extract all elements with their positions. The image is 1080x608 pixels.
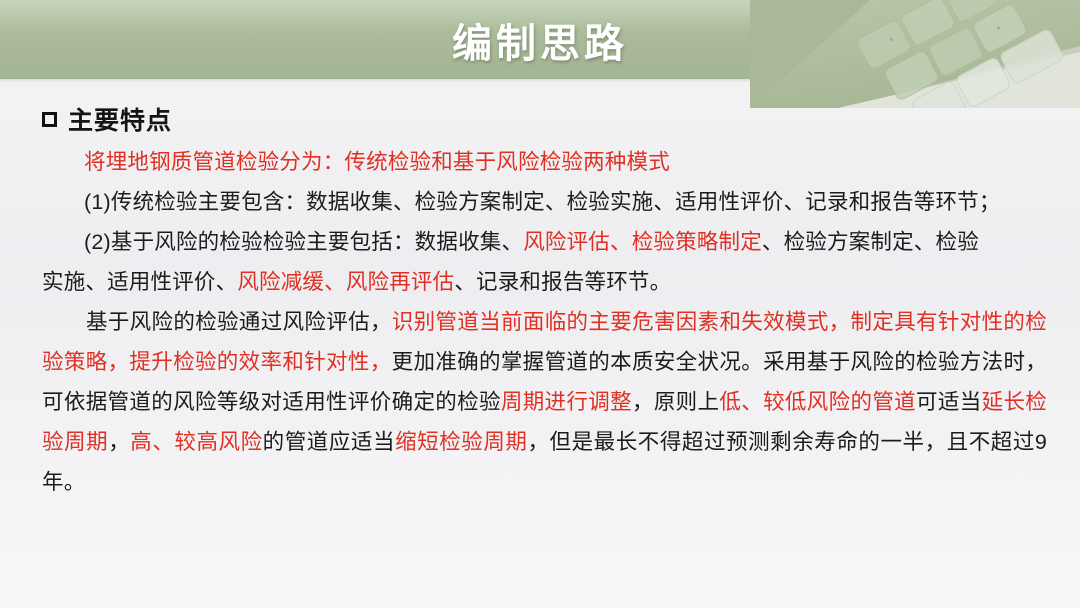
list-item-2-seg-f: 、记录和报告等环节。 [454,270,671,294]
paragraph-seg-11: 的管道应适当 [263,430,395,454]
paragraph-seg-1: 基于风险的检验通过风险评估， [86,310,392,334]
paragraph-seg-7: 可适当 [916,390,982,414]
list-item-2-line-2: 实施、适用性评价、风险减缓、风险再评估、记录和报告等环节。 [42,262,1050,302]
section-heading: 主要特点 [42,101,172,137]
slide-body: 主要特点 将埋地钢质管道检验分为：传统检验和基于风险检验两种模式 (1)传统检验… [0,82,1080,608]
paragraph-seg-9: ， [108,430,130,454]
main-paragraph: 基于风险的检验通过风险评估，识别管道当前面临的主要危害因素和失效模式，制定具有针… [42,302,1047,502]
paragraph-seg-5: ，原则上 [632,390,719,414]
intro-line: 将埋地钢质管道检验分为：传统检验和基于风险检验两种模式 [84,142,1080,182]
list-item-2-line-1: (2)基于风险的检验检验主要包括：数据收集、风险评估、检验策略制定、检验方案制定… [84,222,1080,262]
slide-root: 编制思路 主要特点 将埋地钢质管道检验分为：传统检验和基于风险检验两种模式 (1… [0,0,1080,608]
list-item-2-seg-b: 风险评估、检验策略制定 [523,230,762,254]
list-item-2-seg-a: (2)基于风险的检验检验主要包括：数据收集、 [84,230,523,254]
paragraph-seg-10: 高、较高风险 [130,430,262,454]
section-heading-label: 主要特点 [68,101,172,137]
paragraph-seg-12: 缩短检验周期 [395,430,527,454]
list-item-1: (1)传统检验主要包含：数据收集、检验方案制定、检验实施、适用性评价、记录和报告… [84,182,1080,222]
paragraph-seg-4: 周期进行调整 [501,390,632,414]
list-item-2-seg-d: 实施、适用性评价、 [42,270,237,294]
list-item-2-seg-c: 、检验方案制定、检验 [762,230,979,254]
list-item-1-text: (1)传统检验主要包含：数据收集、检验方案制定、检验实施、适用性评价、记录和报告… [84,190,1001,214]
square-bullet-icon [42,112,57,127]
paragraph-seg-6: 低、较低风险的管道 [719,390,916,414]
page-title: 编制思路 [0,0,1080,79]
intro-line-text: 将埋地钢质管道检验分为：传统检验和基于风险检验两种模式 [84,150,670,174]
list-item-2-seg-e: 风险减缓、风险再评估 [237,270,454,294]
